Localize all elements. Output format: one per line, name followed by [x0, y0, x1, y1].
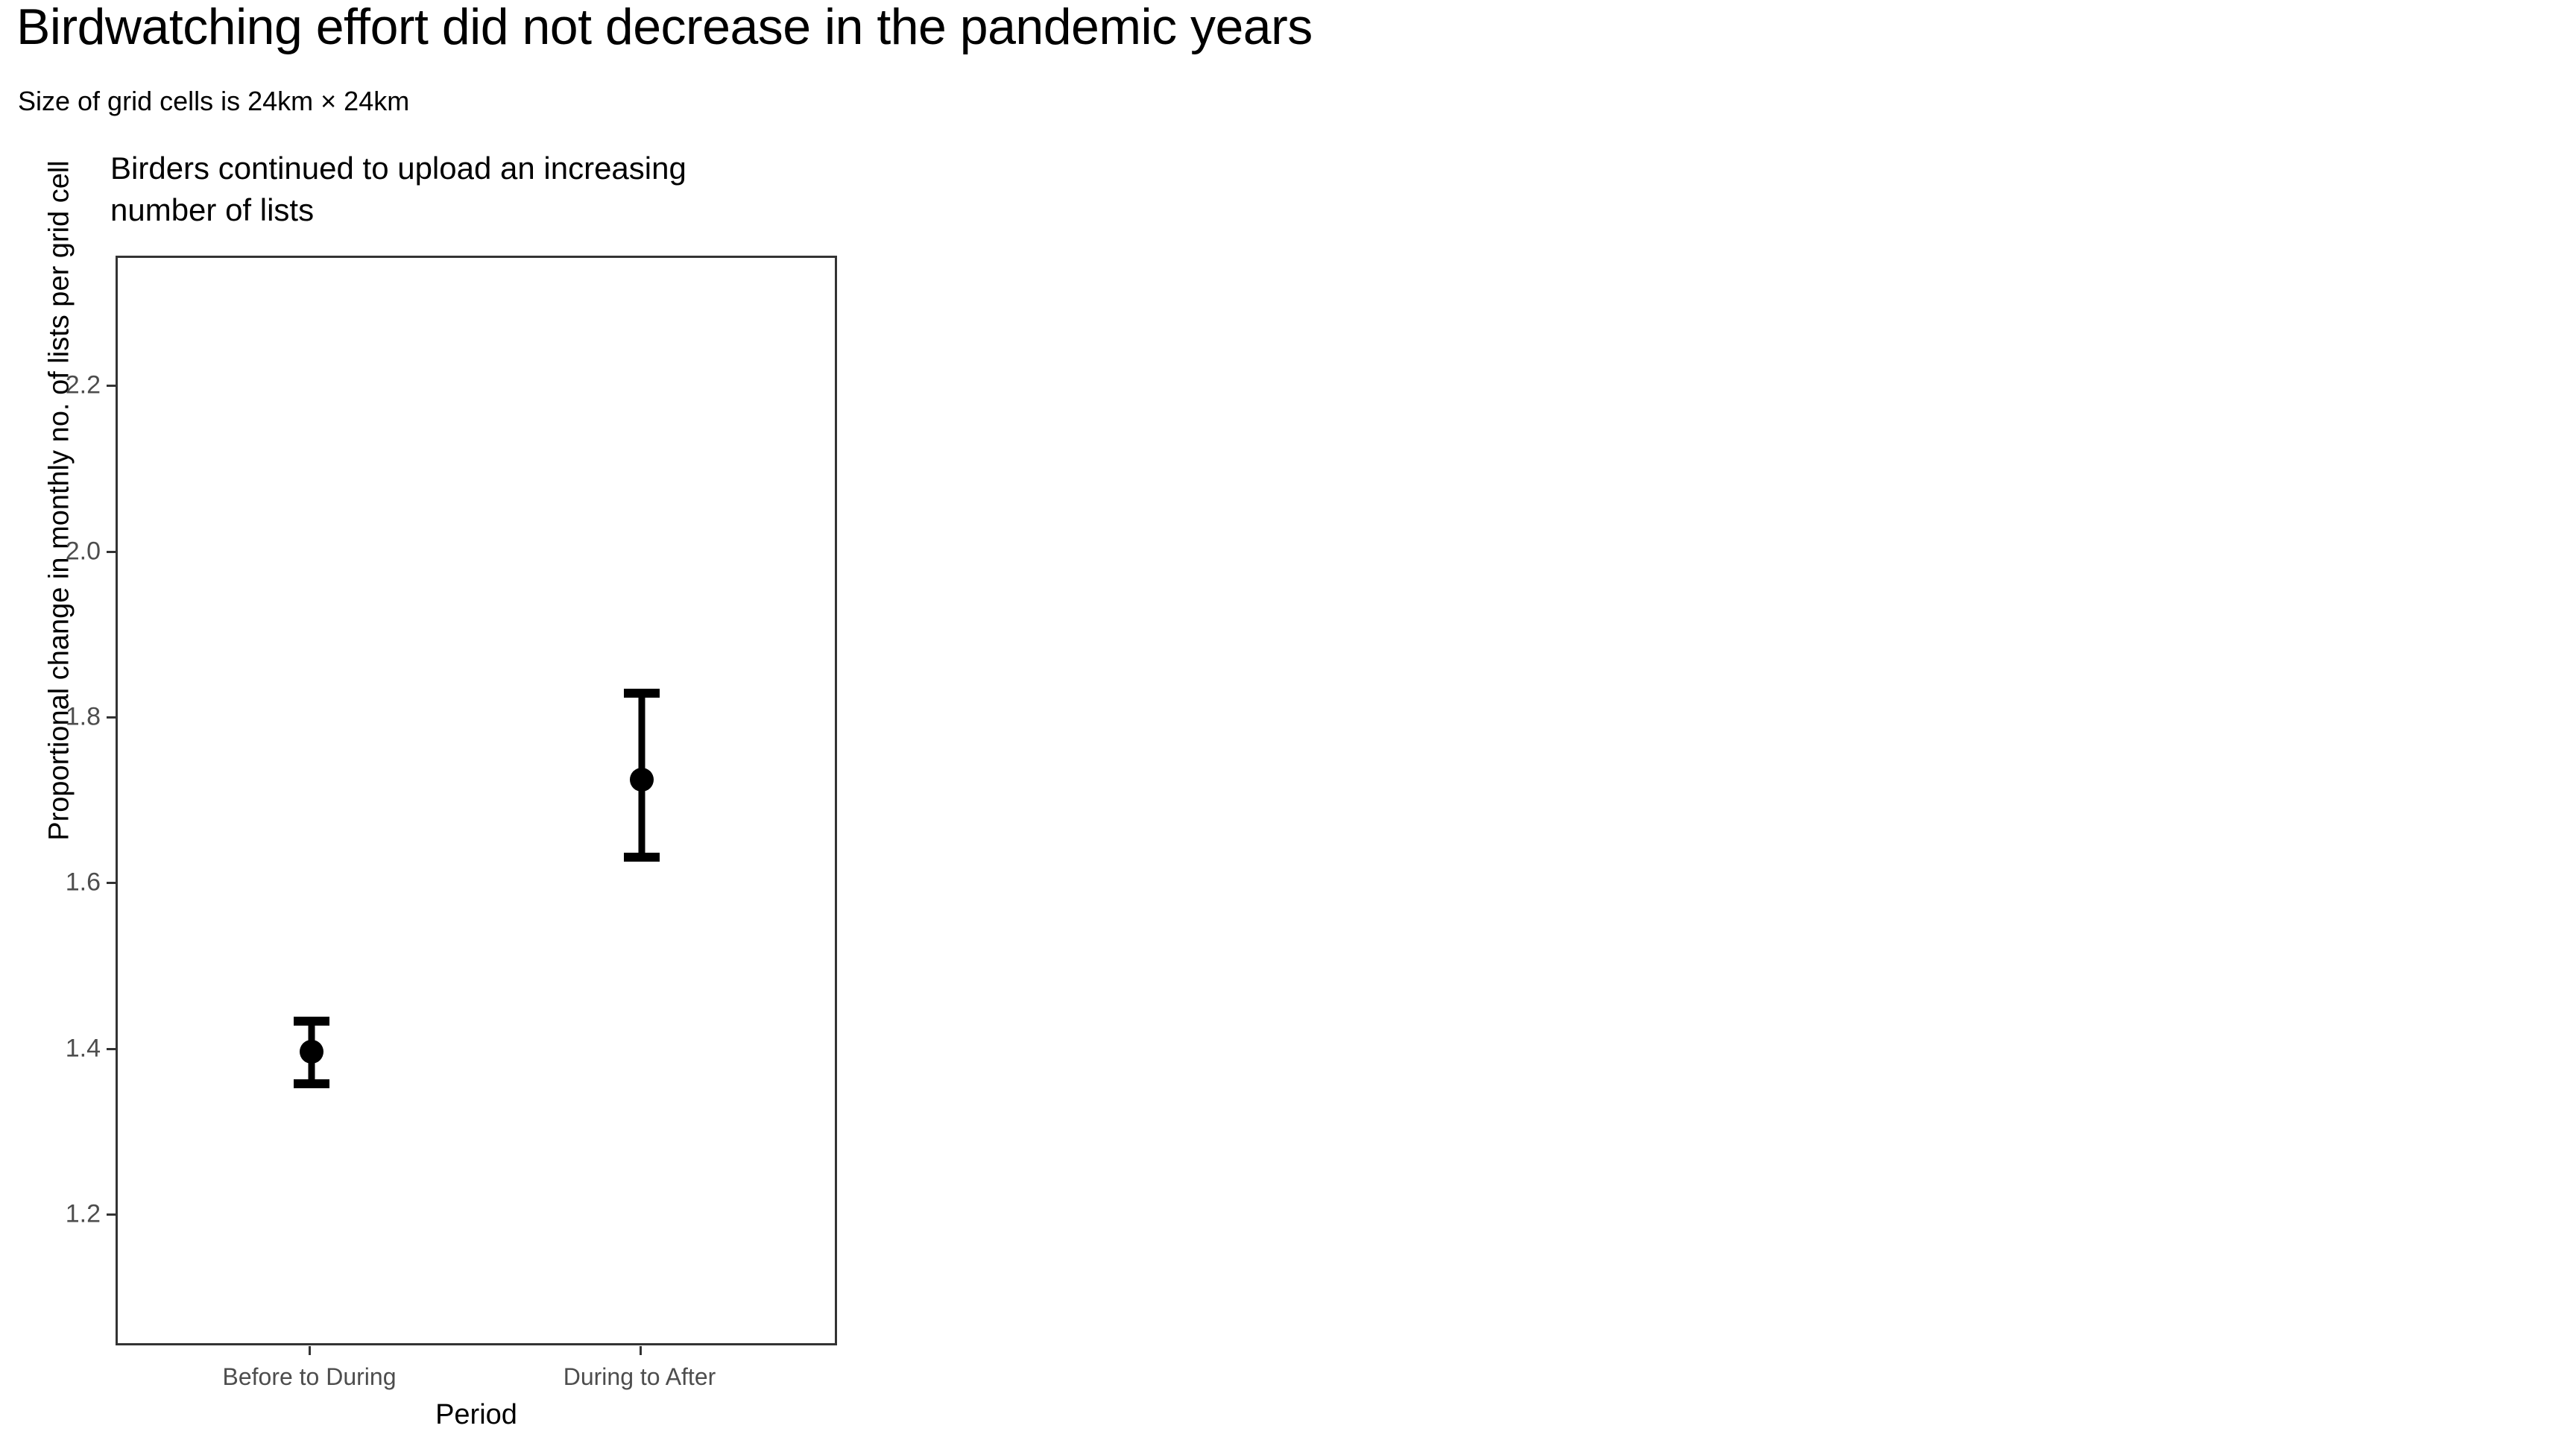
panel-title: Birders continued to upload an increasin… [110, 148, 722, 231]
y-tick-label-1.2: 1.2 [45, 1200, 101, 1229]
errorbar-cap-upper-during-to-after [624, 689, 660, 698]
y-tick-mark-2.0 [107, 551, 116, 553]
figure-root: Birdwatching effort did not decrease in … [0, 0, 2576, 1449]
errorbar-cap-lower-during-to-after [624, 853, 660, 862]
errorbar-cap-upper-before-to-during [294, 1017, 329, 1026]
errorbar-cap-lower-before-to-during [294, 1079, 329, 1088]
x-tick-mark-before-to-during [309, 1346, 311, 1355]
data-point-before-to-during [300, 1040, 323, 1064]
x-axis-title: Period [435, 1399, 517, 1431]
y-tick-label-2.0: 2.0 [45, 537, 101, 566]
y-tick-mark-1.4 [107, 1048, 116, 1050]
y-tick-label-1.4: 1.4 [45, 1035, 101, 1064]
x-tick-label-before-to-during: Before to During [222, 1363, 396, 1391]
data-point-during-to-after [630, 768, 654, 792]
y-axis-title: Proportional change in monthly no. of li… [44, 46, 76, 956]
y-tick-mark-1.6 [107, 882, 116, 884]
y-tick-mark-2.2 [107, 385, 116, 387]
x-tick-mark-during-to-after [640, 1346, 642, 1355]
y-tick-label-1.8: 1.8 [45, 703, 101, 732]
y-tick-label-1.6: 1.6 [45, 868, 101, 897]
figure-title: Birdwatching effort did not decrease in … [16, 1, 1313, 52]
x-tick-label-during-to-after: During to After [563, 1363, 716, 1391]
plot-surface [118, 258, 835, 1343]
plot-panel [116, 256, 837, 1345]
y-tick-mark-1.8 [107, 716, 116, 719]
figure-subtitle: Size of grid cells is 24km × 24km [18, 88, 409, 115]
y-tick-label-2.2: 2.2 [45, 371, 101, 400]
y-tick-mark-1.2 [107, 1213, 116, 1216]
